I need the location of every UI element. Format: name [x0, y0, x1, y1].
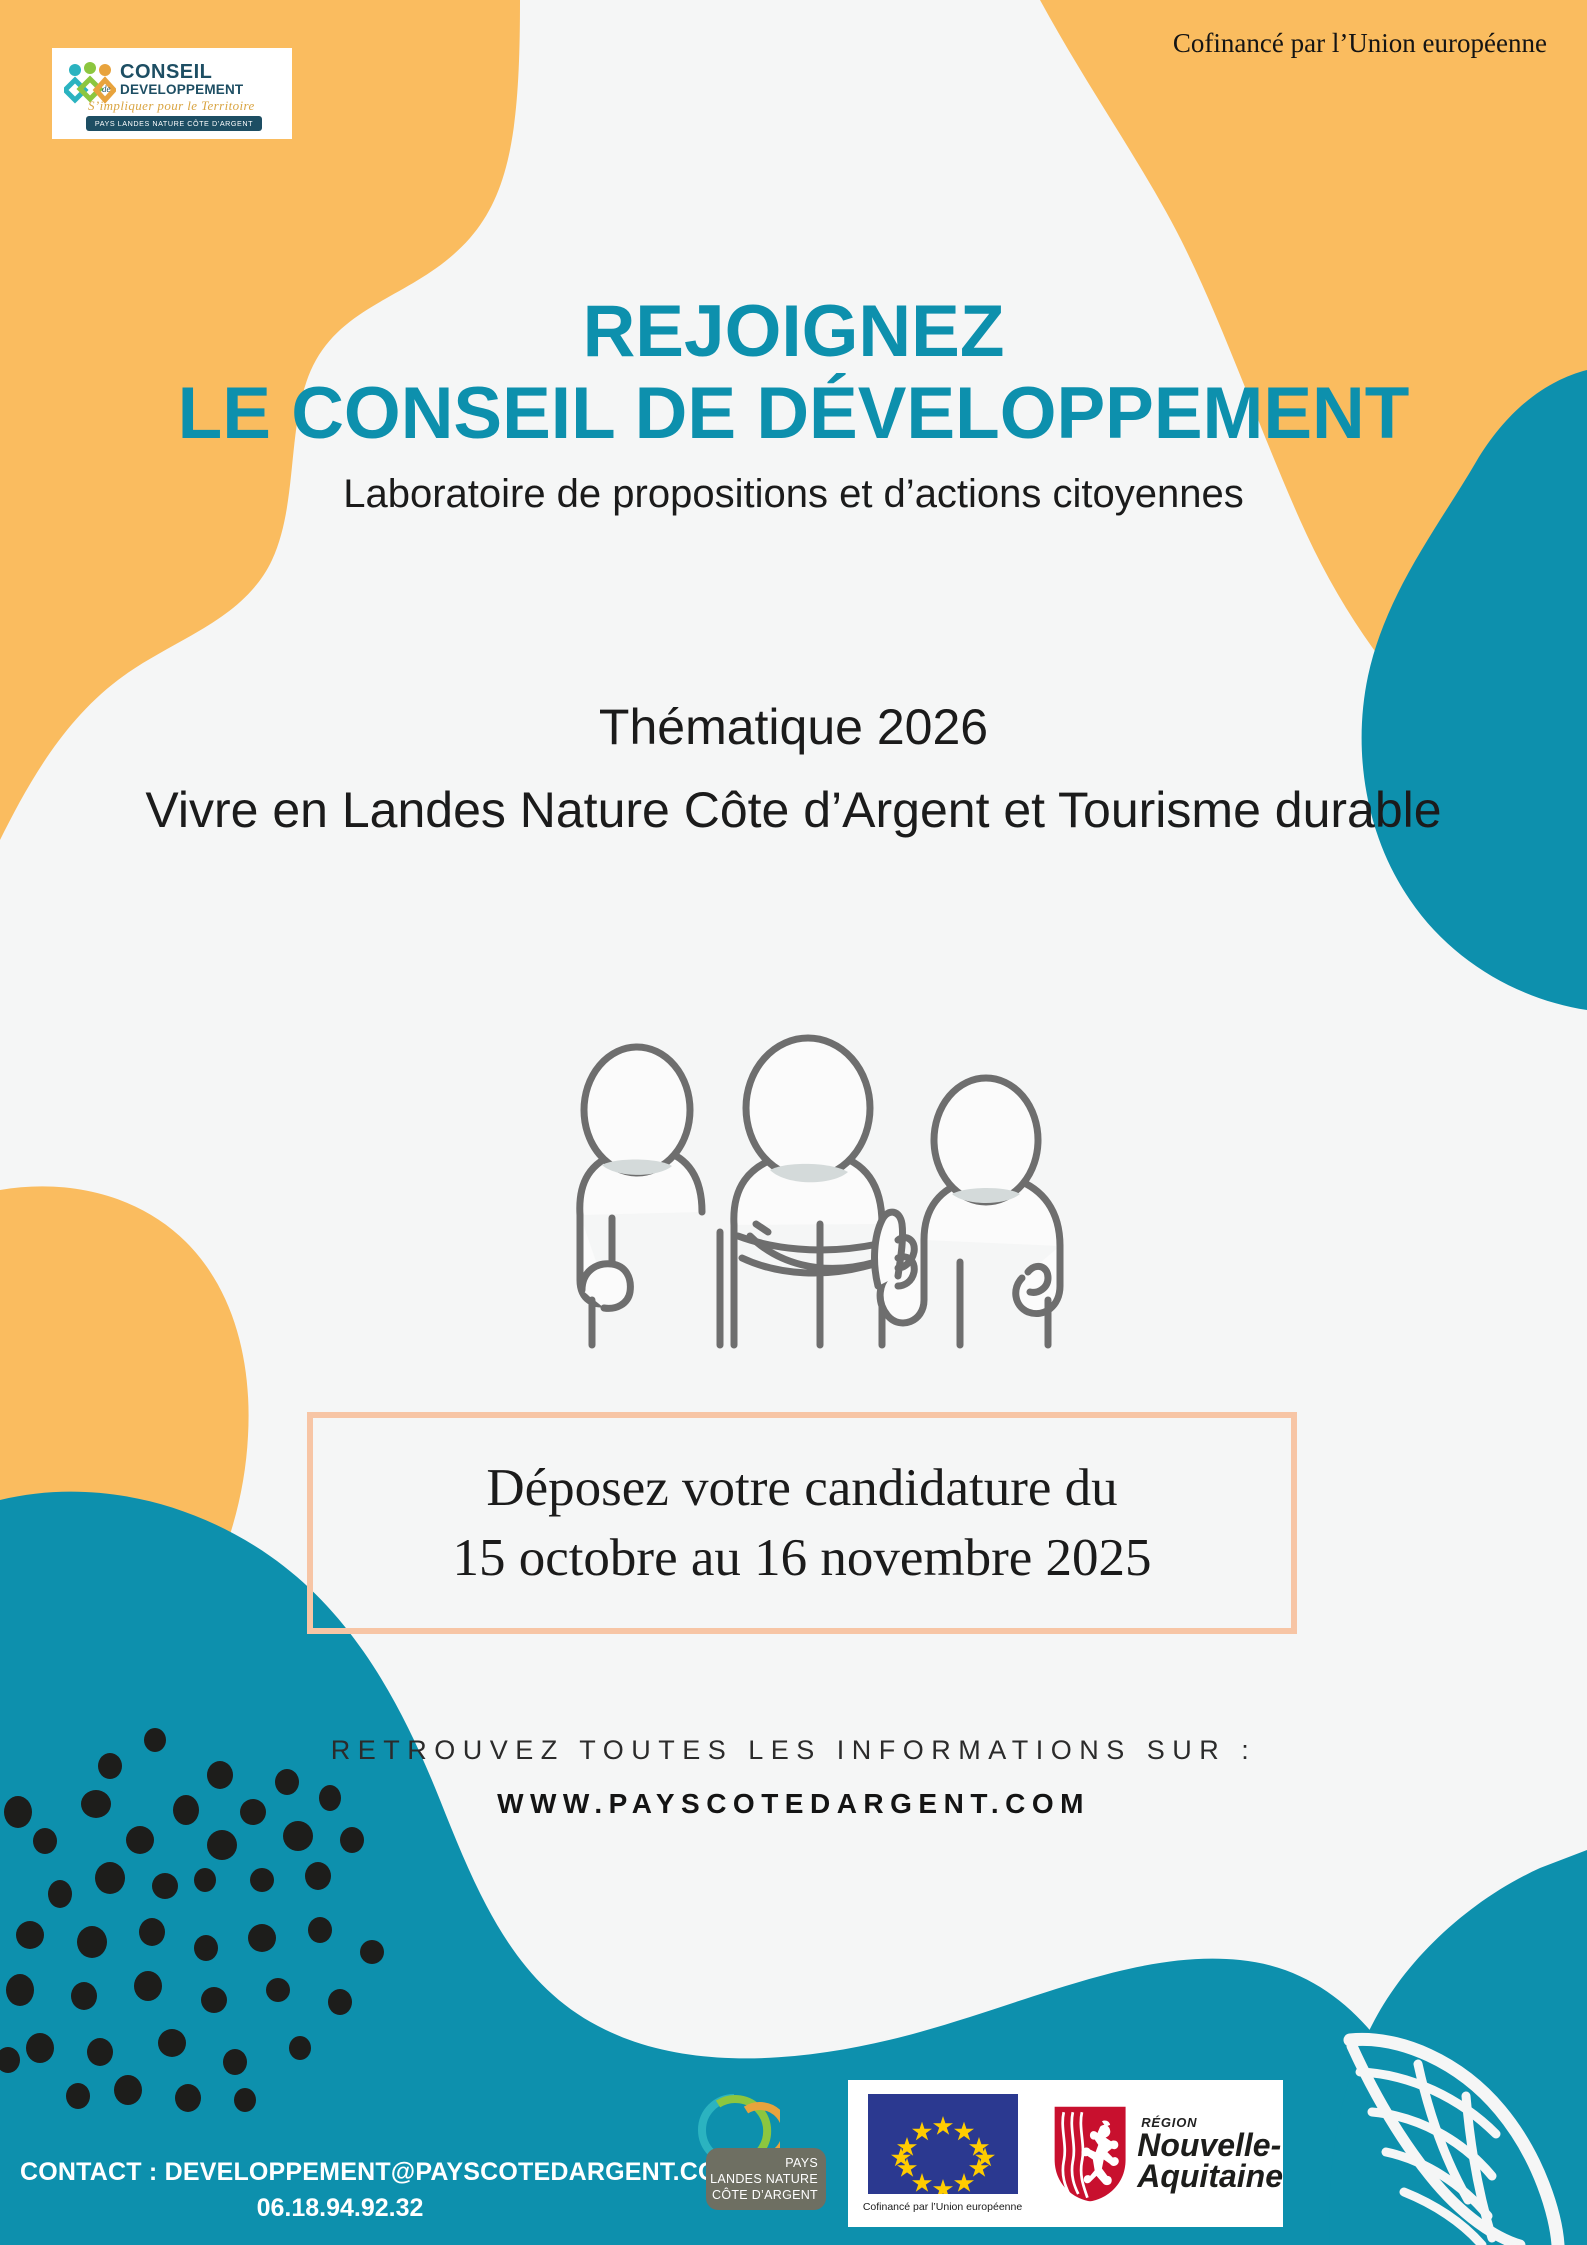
cta-line-2: 15 octobre au 16 novembre 2025 — [452, 1523, 1151, 1593]
region-shield-icon — [1051, 2098, 1129, 2210]
eu-stars — [868, 2094, 1018, 2194]
cta-line-1: Déposez votre candidature du — [486, 1453, 1117, 1523]
eu-flag — [868, 2094, 1018, 2194]
logo-tagline: S’impliquer pour le Territoire — [88, 98, 255, 114]
eu-cofinancing-text: Cofinancé par l’Union européenne — [1173, 28, 1547, 59]
thematic-subtitle: Vivre en Landes Nature Côte d’Argent et … — [0, 783, 1587, 838]
region-name-line-1: Nouvelle- — [1137, 2130, 1283, 2161]
region-name-line-2: Aquitaine — [1137, 2161, 1283, 2192]
logo-word-developpement: DEVELOPPEMENT — [120, 83, 243, 97]
thematic-title: Thématique 2026 — [0, 700, 1587, 755]
pays-badge-line-1: PAYS — [706, 2155, 818, 2171]
figure-right — [875, 1078, 1060, 1345]
headline-line-1: REJOIGNEZ — [0, 295, 1587, 368]
logo-territory-bar: PAYS LANDES NATURE CÔTE D’ARGENT — [86, 116, 262, 131]
contact-phone[interactable]: 06.18.94.92.32 — [20, 2194, 660, 2223]
logo-word-conseil: CONSEIL — [120, 62, 212, 82]
contact-block: CONTACT : DEVELOPPEMENT@PAYSCOTEDARGENT.… — [20, 2158, 660, 2223]
figure-left — [580, 1047, 720, 1345]
info-label: RETROUVEZ TOUTES LES INFORMATIONS SUR : — [0, 1735, 1587, 1766]
pays-badge-line-3: CÔTE D’ARGENT — [706, 2187, 818, 2203]
thematic-block: Thématique 2026 Vivre en Landes Nature C… — [0, 700, 1587, 838]
headline-line-2: LE CONSEIL DE DÉVELOPPEMENT — [0, 372, 1587, 455]
region-wordmark: RÉGION Nouvelle- Aquitaine — [1137, 2115, 1283, 2193]
pays-badge: PAYS LANDES NATURE CÔTE D’ARGENT — [706, 2148, 826, 2210]
figure-middle — [734, 1038, 882, 1345]
info-block: RETROUVEZ TOUTES LES INFORMATIONS SUR : … — [0, 1735, 1587, 1820]
three-people-discussion-illustration — [520, 1000, 1100, 1360]
european-union-flag-logo: Cofinancé par l’Union européenne — [848, 2080, 1037, 2227]
headline-subtitle: Laboratoire de propositions et d’actions… — [0, 471, 1587, 517]
eu-logo-caption: Cofinancé par l’Union européenne — [863, 2201, 1022, 2213]
website-url[interactable]: WWW.PAYSCOTEDARGENT.COM — [0, 1788, 1587, 1820]
pays-landes-nature-cote-dargent-logo: PAYS LANDES NATURE CÔTE D’ARGENT — [680, 2092, 826, 2214]
region-nouvelle-aquitaine-logo: RÉGION Nouvelle- Aquitaine — [1037, 2080, 1283, 2227]
conseil-developpement-logo: CONSEIL de DEVELOPPEMENT S’impliquer pou… — [52, 48, 292, 139]
pays-badge-line-2: LANDES NATURE — [706, 2171, 818, 2187]
logo-word-de: de — [102, 84, 111, 94]
poster-canvas: CONSEIL de DEVELOPPEMENT S’impliquer pou… — [0, 0, 1587, 2245]
contact-email-line[interactable]: CONTACT : DEVELOPPEMENT@PAYSCOTEDARGENT.… — [20, 2158, 660, 2187]
application-period-box: Déposez votre candidature du 15 octobre … — [307, 1412, 1297, 1634]
headline-block: REJOIGNEZ LE CONSEIL DE DÉVELOPPEMENT La… — [0, 295, 1587, 517]
